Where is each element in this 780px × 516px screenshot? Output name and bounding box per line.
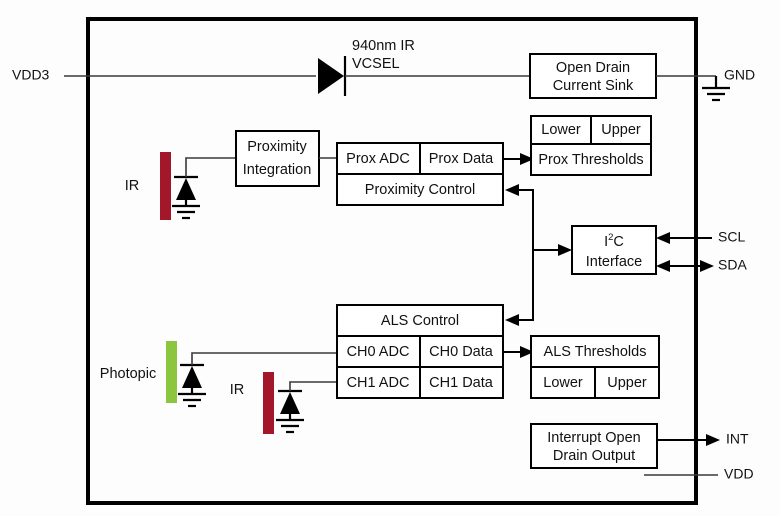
i2c-input-arrowhead-icon [558, 244, 572, 256]
prox-lower-label: Lower [541, 122, 581, 138]
pin-label-vdd3: VDD3 [12, 67, 50, 83]
prox-adc-label: Prox ADC [346, 151, 410, 167]
proximity-control-arrowhead-icon [505, 184, 519, 196]
photopic-to-ch0-adc-wire [192, 353, 337, 365]
block-diagram: VDD3 940nm IR VCSEL Open Drain Current S… [0, 0, 780, 516]
als-thresholds-label: ALS Thresholds [544, 344, 647, 360]
pin-label-int: INT [726, 431, 749, 447]
prox-thresholds-label: Prox Thresholds [538, 152, 643, 168]
ir-photodiode-prox-bar-icon [160, 152, 171, 220]
pin-label-gnd: GND [724, 67, 755, 83]
ir-photodiode-als-bar-icon [263, 372, 274, 434]
proximity-integration-line1: Proximity [247, 139, 307, 155]
prox-upper-label: Upper [601, 122, 641, 138]
int-arrowhead-icon [706, 434, 720, 446]
i2c-control-bus-wire [519, 190, 533, 320]
vcsel-diode-anode-icon [318, 58, 344, 94]
photopic-diode-triangle-icon [182, 366, 202, 388]
open-drain-current-sink-line2: Current Sink [553, 78, 634, 94]
i2c-interface-line2: Interface [586, 254, 642, 270]
vcsel-label-line1: 940nm IR [352, 38, 415, 54]
pin-label-vdd: VDD [724, 466, 754, 482]
als-lower-label: Lower [543, 375, 583, 391]
ir-prox-to-integration-wire [186, 158, 236, 177]
sda-arrowhead-in-icon [656, 260, 670, 272]
interrupt-output-line2: Drain Output [553, 448, 635, 464]
proximity-integration-line2: Integration [243, 162, 312, 178]
scl-arrowhead-icon [656, 232, 670, 244]
ch1-adc-label: CH1 ADC [347, 375, 410, 391]
photopic-label: Photopic [100, 366, 156, 382]
als-upper-label: Upper [607, 375, 647, 391]
ir-als-to-ch1-adc-wire [290, 382, 337, 391]
vcsel-label-line2: VCSEL [352, 56, 400, 72]
ir-prox-diode-triangle-icon [176, 178, 196, 200]
ir-als-diode-triangle-icon [280, 392, 300, 414]
ch1-data-label: CH1 Data [429, 375, 494, 391]
pin-label-sda: SDA [718, 257, 747, 273]
pin-label-scl: SCL [718, 229, 745, 245]
i2c-interface-line1: I2C [604, 232, 624, 250]
ir-prox-label: IR [125, 178, 140, 194]
open-drain-current-sink-line1: Open Drain [556, 60, 630, 76]
als-control-arrowhead-icon [505, 314, 519, 326]
prox-data-label: Prox Data [429, 151, 494, 167]
ch0-adc-label: CH0 ADC [347, 344, 410, 360]
photopic-photodiode-bar-icon [166, 341, 177, 403]
proximity-control-label: Proximity Control [365, 182, 475, 198]
sda-arrowhead-out-icon [700, 260, 714, 272]
ir-als-label: IR [230, 382, 245, 398]
als-control-label: ALS Control [381, 313, 459, 329]
ch0-data-label: CH0 Data [429, 344, 494, 360]
interrupt-output-line1: Interrupt Open [547, 430, 641, 446]
